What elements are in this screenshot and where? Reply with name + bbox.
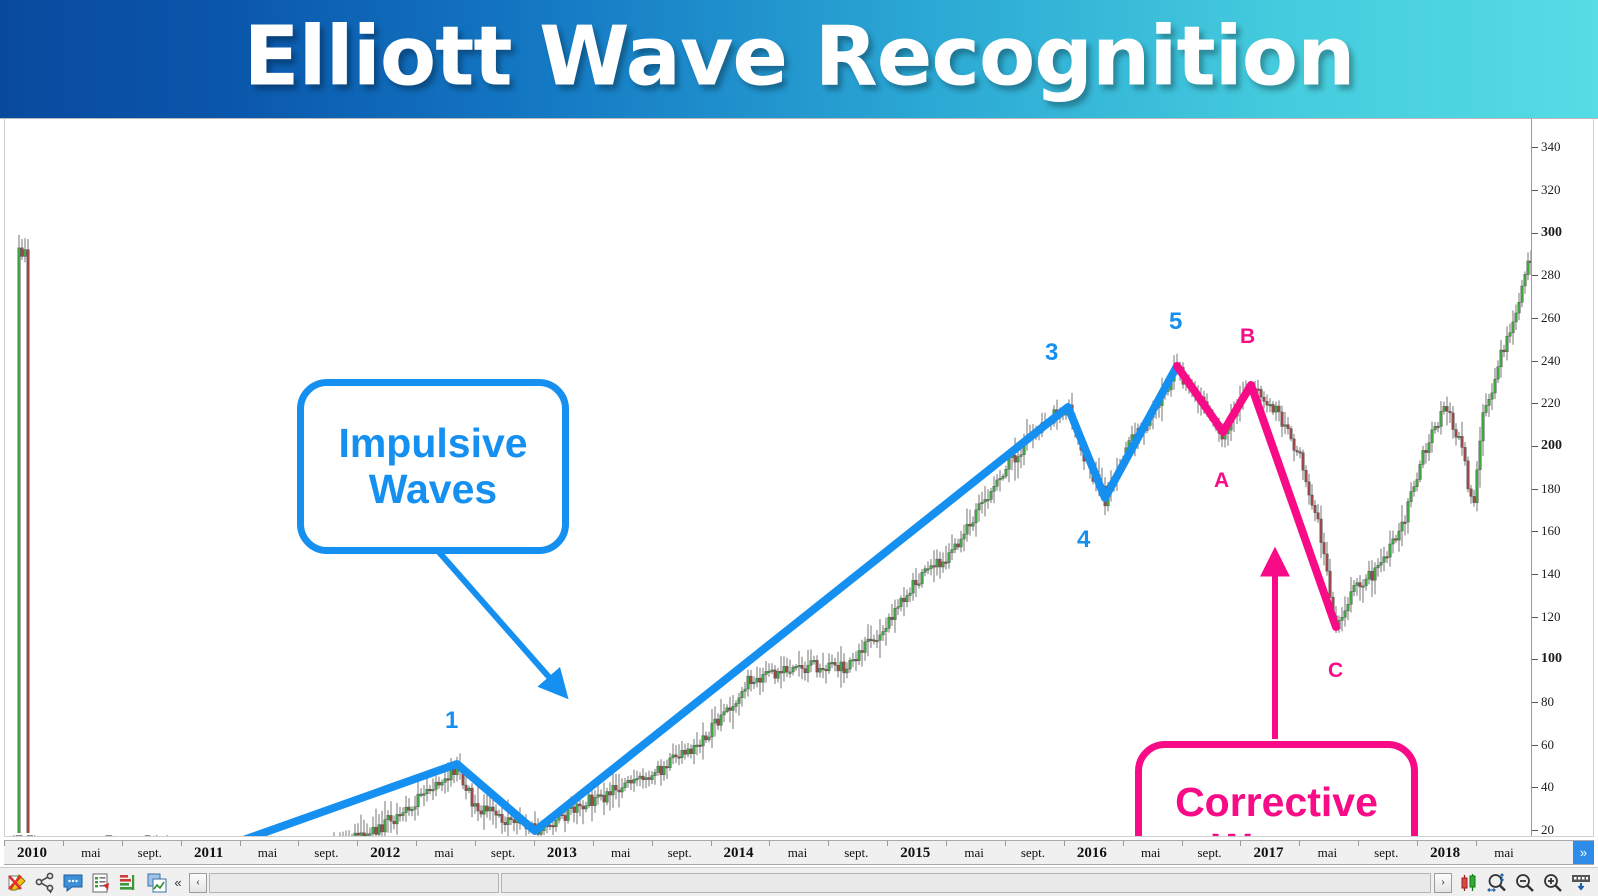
date-tick-mark (769, 841, 770, 846)
date-tick-mark (946, 841, 947, 846)
price-tick-label: 120 (1541, 609, 1561, 625)
date-tick-label: sept. (491, 841, 515, 865)
collapse-toolbar-button[interactable]: « (170, 875, 186, 890)
date-tick-mark (4, 841, 5, 846)
price-tick-label: 100 (1541, 651, 1562, 667)
callout-impulsive-line2: Waves (369, 467, 497, 513)
date-tick-mark (1005, 841, 1006, 846)
price-tick-label: 20 (1541, 822, 1554, 837)
price-tick-mark (1532, 489, 1538, 490)
date-tick-label: 2014 (724, 841, 754, 865)
date-tick-mark (1240, 841, 1241, 846)
price-tick-mark (1532, 531, 1538, 532)
multichart-icon[interactable] (144, 870, 170, 896)
chart-window: 2040608010012014016018020022024026028030… (0, 118, 1598, 896)
date-tick-mark (711, 841, 712, 846)
callout-corrective-line1: Corrective (1175, 780, 1378, 826)
date-tick-label: mai (1318, 841, 1338, 865)
callout-corrective-line2: Waves (1212, 826, 1340, 837)
date-tick-mark (1476, 841, 1477, 846)
date-tick-mark (1299, 841, 1300, 846)
price-tick-label: 60 (1541, 737, 1554, 753)
date-tick-label: 2017 (1253, 841, 1283, 865)
date-tick-label: mai (1141, 841, 1161, 865)
callout-impulsive-waves[interactable]: Impulsive Waves (297, 379, 569, 554)
date-tick-label: mai (258, 841, 278, 865)
price-tick-mark (1532, 830, 1538, 831)
scroll-left-button[interactable]: ‹ (189, 873, 207, 893)
zoom-out-icon[interactable] (1512, 870, 1538, 896)
date-tick-label: 2010 (17, 841, 47, 865)
date-tick-label: 2012 (370, 841, 400, 865)
candlestick-series (5, 119, 1594, 837)
date-tick-label: mai (964, 841, 984, 865)
price-axis[interactable]: 2040608010012014016018020022024026028030… (1531, 119, 1593, 837)
date-tick-label: 2015 (900, 841, 930, 865)
date-tick-label: sept. (844, 841, 868, 865)
date-tick-mark (475, 841, 476, 846)
date-tick-mark (1123, 841, 1124, 846)
screenshot-root: Elliott Wave Recognition 204060801001201… (0, 0, 1598, 896)
date-tick-label: 2013 (547, 841, 577, 865)
horizontal-scrollbar-left[interactable] (209, 873, 499, 893)
date-tick-mark (1064, 841, 1065, 846)
date-tick-label: mai (788, 841, 808, 865)
date-tick-mark (416, 841, 417, 846)
price-tick-label: 340 (1541, 139, 1561, 155)
price-tick-label: 220 (1541, 395, 1561, 411)
price-tick-label: 200 (1541, 438, 1562, 454)
date-tick-label: sept. (1374, 841, 1398, 865)
price-tick-mark (1532, 659, 1538, 660)
wave-label-3: 3 (1045, 339, 1058, 367)
date-tick-mark (828, 841, 829, 846)
date-tick-mark (1182, 841, 1183, 846)
price-tick-mark (1532, 446, 1538, 447)
date-tick-label: mai (611, 841, 631, 865)
date-tick-mark (534, 841, 535, 846)
date-tick-label: mai (81, 841, 101, 865)
horizontal-scrollbar-right[interactable] (501, 873, 1431, 893)
price-tick-mark (1532, 787, 1538, 788)
price-tick-label: 300 (1541, 225, 1562, 241)
price-tick-label: 180 (1541, 481, 1561, 497)
price-tick-label: 320 (1541, 182, 1561, 198)
price-tick-label: 160 (1541, 523, 1561, 539)
comment-icon[interactable] (60, 870, 86, 896)
date-tick-label: sept. (1197, 841, 1221, 865)
date-tick-mark (181, 841, 182, 846)
price-tick-label: 140 (1541, 566, 1561, 582)
candlestick-icon[interactable] (1456, 870, 1482, 896)
page-title: Elliott Wave Recognition (0, 16, 1598, 98)
scroll-right-button[interactable]: › (1434, 873, 1452, 893)
delete-drawings-icon[interactable] (4, 870, 30, 896)
wave-label-4: 4 (1077, 526, 1090, 554)
callout-impulsive-line1: Impulsive (338, 421, 527, 467)
keyboard-icon[interactable] (1568, 870, 1594, 896)
date-tick-mark (298, 841, 299, 846)
price-tick-mark (1532, 574, 1538, 575)
price-tick-mark (1532, 190, 1538, 191)
wave-label-c: C (1328, 659, 1343, 683)
date-tick-mark (63, 841, 64, 846)
date-tick-label: 2018 (1430, 841, 1460, 865)
watermark-label: IT-Finance.com - Temps Réel (12, 833, 169, 837)
price-tick-mark (1532, 617, 1538, 618)
list-icon[interactable] (88, 870, 114, 896)
axis-scroll-right-button[interactable]: » (1573, 841, 1594, 864)
date-tick-mark (122, 841, 123, 846)
price-tick-mark (1532, 361, 1538, 362)
date-axis[interactable]: » 2010maisept.2011maisept.2012maisept.20… (4, 840, 1594, 865)
price-tick-label: 280 (1541, 267, 1561, 283)
date-tick-mark (1358, 841, 1359, 846)
wave-label-1: 1 (445, 707, 458, 735)
price-tick-mark (1532, 403, 1538, 404)
date-tick-mark (357, 841, 358, 846)
price-tick-label: 80 (1541, 694, 1554, 710)
date-tick-label: 2016 (1077, 841, 1107, 865)
date-tick-label: sept. (1021, 841, 1045, 865)
price-tick-mark (1532, 745, 1538, 746)
callout-corrective-waves[interactable]: Corrective Waves (1135, 741, 1418, 837)
price-tick-label: 260 (1541, 310, 1561, 326)
price-tick-mark (1532, 233, 1538, 234)
price-tick-label: 240 (1541, 353, 1561, 369)
date-tick-mark (240, 841, 241, 846)
zoom-fit-icon[interactable] (1484, 870, 1510, 896)
date-tick-mark (593, 841, 594, 846)
orderbook-icon[interactable] (116, 870, 142, 896)
wave-label-b: B (1240, 325, 1255, 349)
price-tick-mark (1532, 702, 1538, 703)
title-banner: Elliott Wave Recognition (0, 0, 1598, 118)
date-tick-label: sept. (314, 841, 338, 865)
price-tick-mark (1532, 275, 1538, 276)
date-tick-label: sept. (668, 841, 692, 865)
wave-label-a: A (1214, 469, 1229, 493)
zoom-in-icon[interactable] (1540, 870, 1566, 896)
date-tick-label: 2011 (194, 841, 223, 865)
share-icon[interactable] (32, 870, 58, 896)
bottom-toolbar: « ‹ › (0, 867, 1598, 896)
date-tick-label: mai (1494, 841, 1514, 865)
date-tick-label: mai (434, 841, 454, 865)
chart-plot-area[interactable]: 2040608010012014016018020022024026028030… (4, 119, 1594, 837)
date-tick-label: sept. (138, 841, 162, 865)
date-tick-mark (887, 841, 888, 846)
wave-label-5: 5 (1169, 308, 1182, 336)
price-tick-label: 40 (1541, 779, 1554, 795)
date-tick-mark (652, 841, 653, 846)
date-tick-mark (1417, 841, 1418, 846)
price-tick-mark (1532, 147, 1538, 148)
price-tick-mark (1532, 318, 1538, 319)
